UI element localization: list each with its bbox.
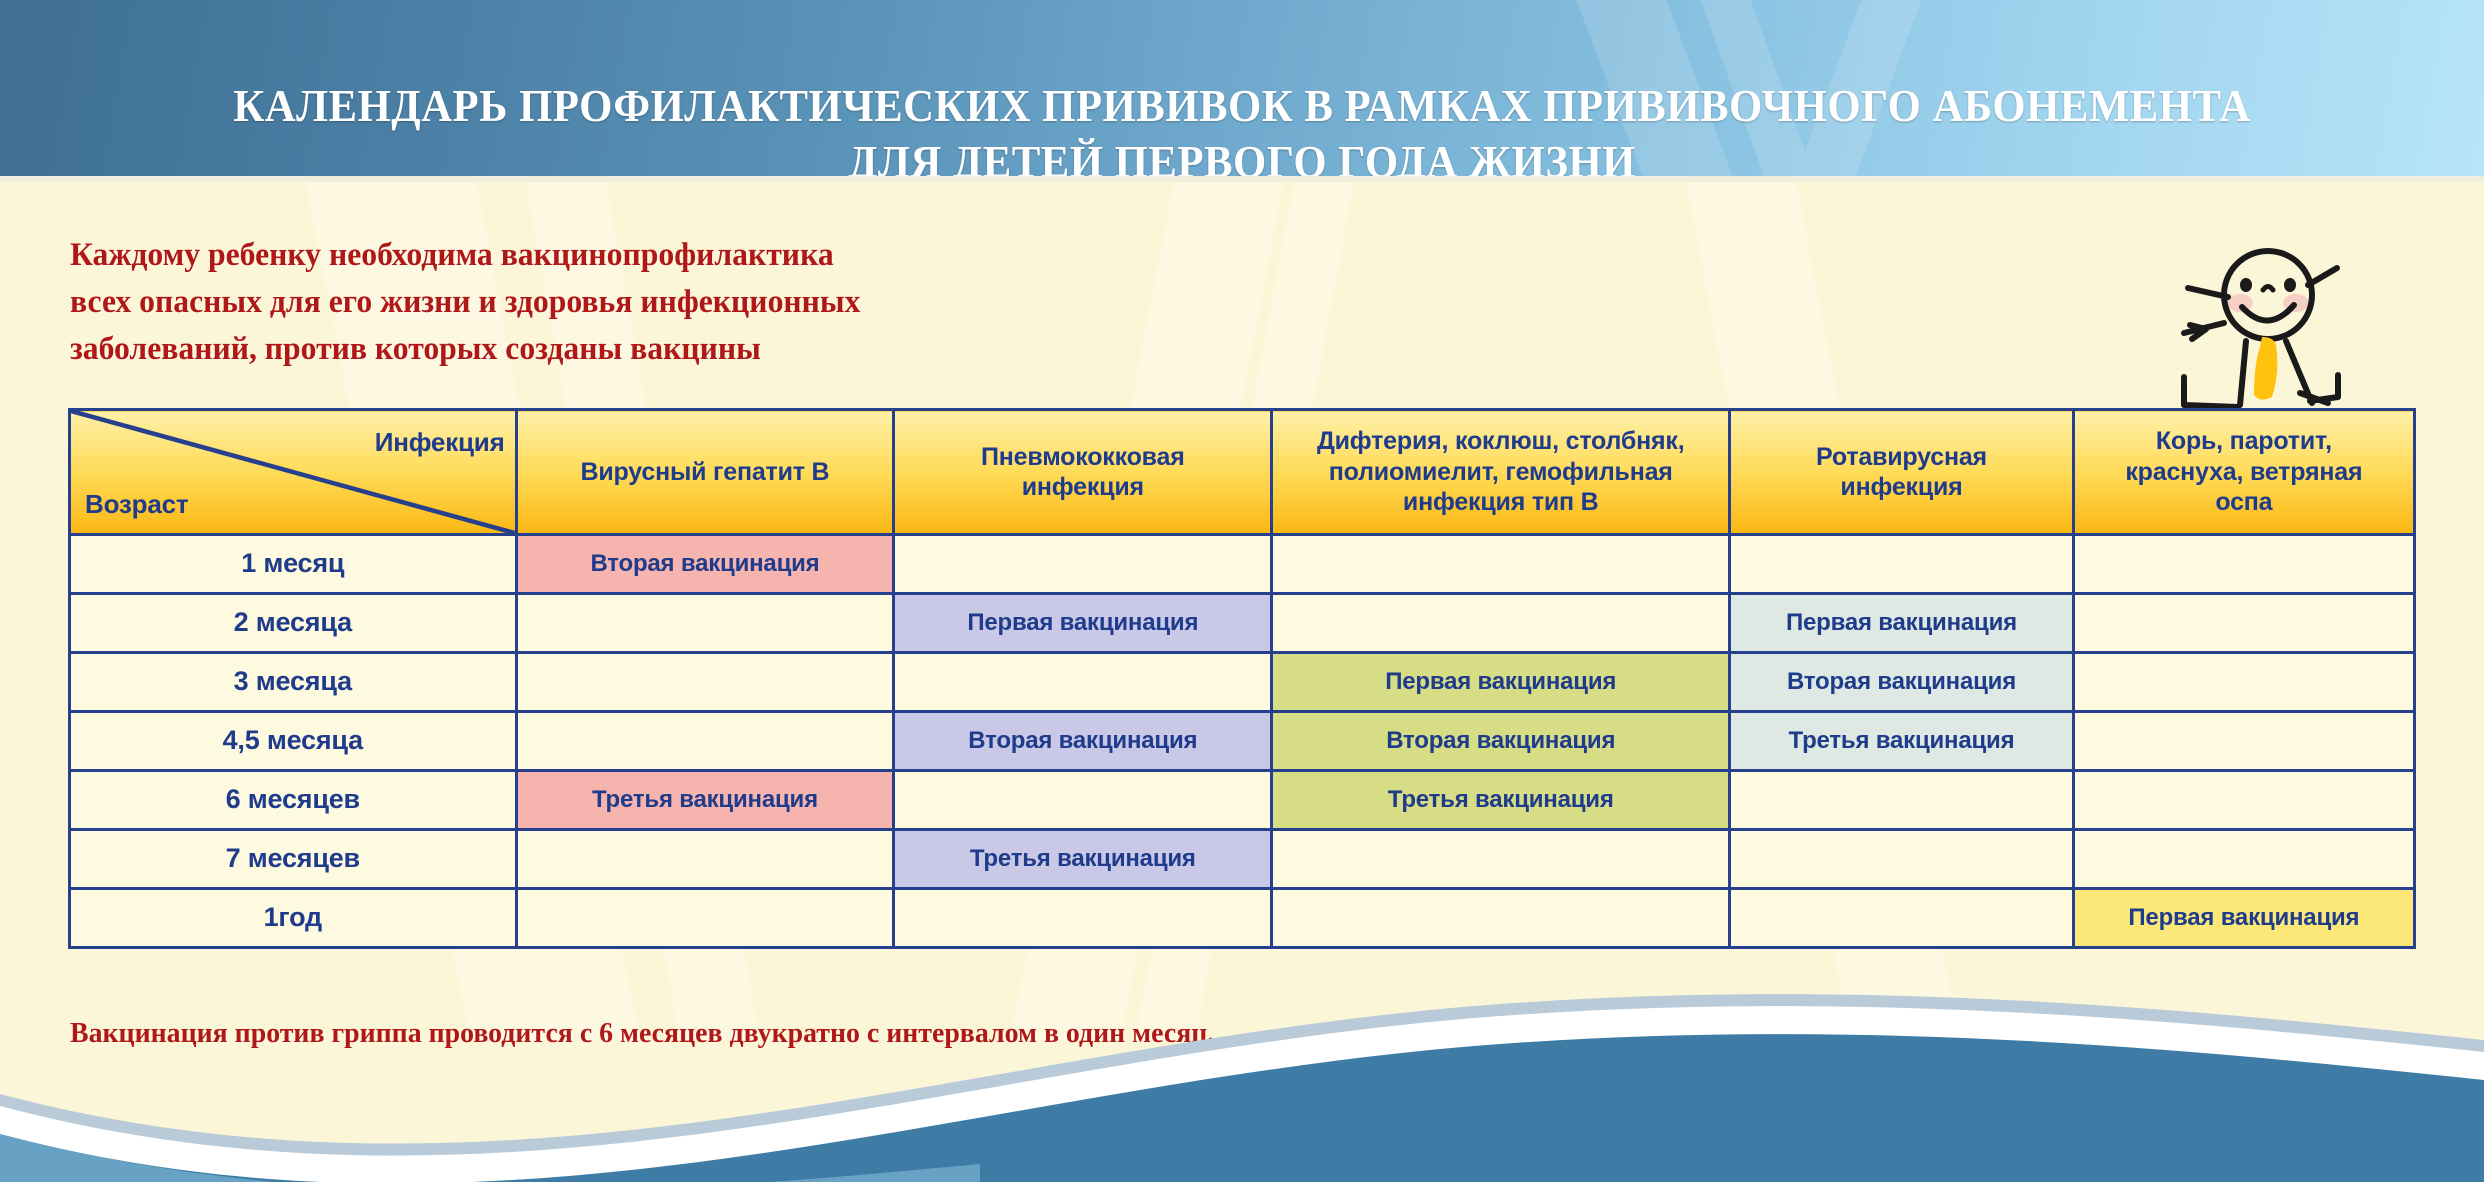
infographic-page: КАЛЕНДАРЬ ПРОФИЛАКТИЧЕСКИХ ПРИВИВОК В РА… — [0, 0, 2484, 1182]
column-header-rotavirus: Ротавирусная инфекция — [1730, 410, 2074, 535]
empty-cell — [516, 830, 894, 889]
smiling-child-stick-figure-icon — [2162, 225, 2392, 415]
empty-cell — [2073, 535, 2414, 594]
empty-cell — [516, 594, 894, 653]
age-cell: 1 месяц — [70, 535, 517, 594]
torso-left — [2240, 341, 2246, 405]
vaccination-cell: Третья вакцинация — [894, 830, 1272, 889]
header-underline-strip — [0, 176, 2484, 182]
empty-cell — [894, 535, 1272, 594]
age-cell: 3 месяца — [70, 653, 517, 712]
vaccination-calendar-table: Инфекция Возраст Вирусный гепатит В Пнев… — [68, 408, 2416, 949]
age-cell: 1год — [70, 889, 517, 948]
table-row: 6 месяцевТретья вакцинацияТретья вакцина… — [70, 771, 2415, 830]
column-header-mmr-varicella: Корь, паротит, краснуха, ветряная оспа — [2073, 410, 2414, 535]
eye-left — [2240, 278, 2252, 292]
empty-cell — [2073, 830, 2414, 889]
arm-right-raised — [2308, 268, 2337, 285]
age-cell: 6 месяцев — [70, 771, 517, 830]
empty-cell — [894, 889, 1272, 948]
vaccination-cell: Вторая вакцинация — [894, 712, 1272, 771]
vaccination-cell: Третья вакцинация — [516, 771, 894, 830]
empty-cell — [1730, 535, 2074, 594]
empty-cell — [516, 653, 894, 712]
table-row: 4,5 месяцаВторая вакцинацияВторая вакцин… — [70, 712, 2415, 771]
necktie — [2254, 337, 2277, 400]
empty-cell — [1730, 830, 2074, 889]
vaccination-cell: Первая вакцинация — [2073, 889, 2414, 948]
table-row: 3 месяцаПервая вакцинацияВторая вакцинац… — [70, 653, 2415, 712]
age-cell: 4,5 месяца — [70, 712, 517, 771]
column-header-dtp-polio-hib: Дифтерия, коклюш, столбняк, полиомиелит,… — [1272, 410, 1730, 535]
empty-cell — [1272, 889, 1730, 948]
empty-cell — [894, 771, 1272, 830]
bottom-wave-decoration — [0, 982, 2484, 1182]
table-row: 1годПервая вакцинация — [70, 889, 2415, 948]
table-body: 1 месяцВторая вакцинация2 месяцаПервая в… — [70, 535, 2415, 948]
empty-cell — [516, 712, 894, 771]
vaccination-cell: Первая вакцинация — [894, 594, 1272, 653]
empty-cell — [894, 653, 1272, 712]
header-band: КАЛЕНДАРЬ ПРОФИЛАКТИЧЕСКИХ ПРИВИВОК В РА… — [0, 0, 2484, 176]
empty-cell — [2073, 771, 2414, 830]
table-row: 2 месяцаПервая вакцинацияПервая вакцинац… — [70, 594, 2415, 653]
empty-cell — [2073, 712, 2414, 771]
table-header-row: Инфекция Возраст Вирусный гепатит В Пнев… — [70, 410, 2415, 535]
table-corner-header: Инфекция Возраст — [70, 410, 517, 535]
corner-infection-label: Инфекция — [375, 427, 505, 459]
corner-age-label: Возраст — [85, 489, 188, 521]
page-title-line-2: ДЛЯ ДЕТЕЙ ПЕРВОГО ГОДА ЖИЗНИ — [87, 134, 2397, 176]
nose — [2263, 287, 2273, 291]
vaccination-cell: Первая вакцинация — [1730, 594, 2074, 653]
empty-cell — [1730, 889, 2074, 948]
empty-cell — [1272, 830, 1730, 889]
vaccination-cell: Третья вакцинация — [1272, 771, 1730, 830]
empty-cell — [2073, 653, 2414, 712]
vaccination-cell: Вторая вакцинация — [516, 535, 894, 594]
empty-cell — [1730, 771, 2074, 830]
page-title-line-1: КАЛЕНДАРЬ ПРОФИЛАКТИЧЕСКИХ ПРИВИВОК В РА… — [233, 80, 2250, 131]
column-header-pneumococcal: Пневмококковая инфекция — [894, 410, 1272, 535]
vaccination-cell: Вторая вакцинация — [1272, 712, 1730, 771]
empty-cell — [1272, 594, 1730, 653]
vaccination-cell: Первая вакцинация — [1272, 653, 1730, 712]
age-cell: 2 месяца — [70, 594, 517, 653]
vaccination-cell: Третья вакцинация — [1730, 712, 2074, 771]
leg-left — [2184, 377, 2238, 407]
empty-cell — [1272, 535, 1730, 594]
table-row: 7 месяцевТретья вакцинация — [70, 830, 2415, 889]
vaccination-calendar-table-wrap: Инфекция Возраст Вирусный гепатит В Пнев… — [68, 408, 2416, 949]
empty-cell — [516, 889, 894, 948]
age-cell: 7 месяцев — [70, 830, 517, 889]
vaccination-cell: Вторая вакцинация — [1730, 653, 2074, 712]
column-header-hepatitis-b: Вирусный гепатит В — [516, 410, 894, 535]
table-row: 1 месяцВторая вакцинация — [70, 535, 2415, 594]
intro-text: Каждому ребенку необходима вакцинопрофил… — [70, 232, 860, 373]
eye-right — [2284, 278, 2296, 292]
empty-cell — [2073, 594, 2414, 653]
page-title: КАЛЕНДАРЬ ПРОФИЛАКТИЧЕСКИХ ПРИВИВОК В РА… — [87, 0, 2397, 176]
